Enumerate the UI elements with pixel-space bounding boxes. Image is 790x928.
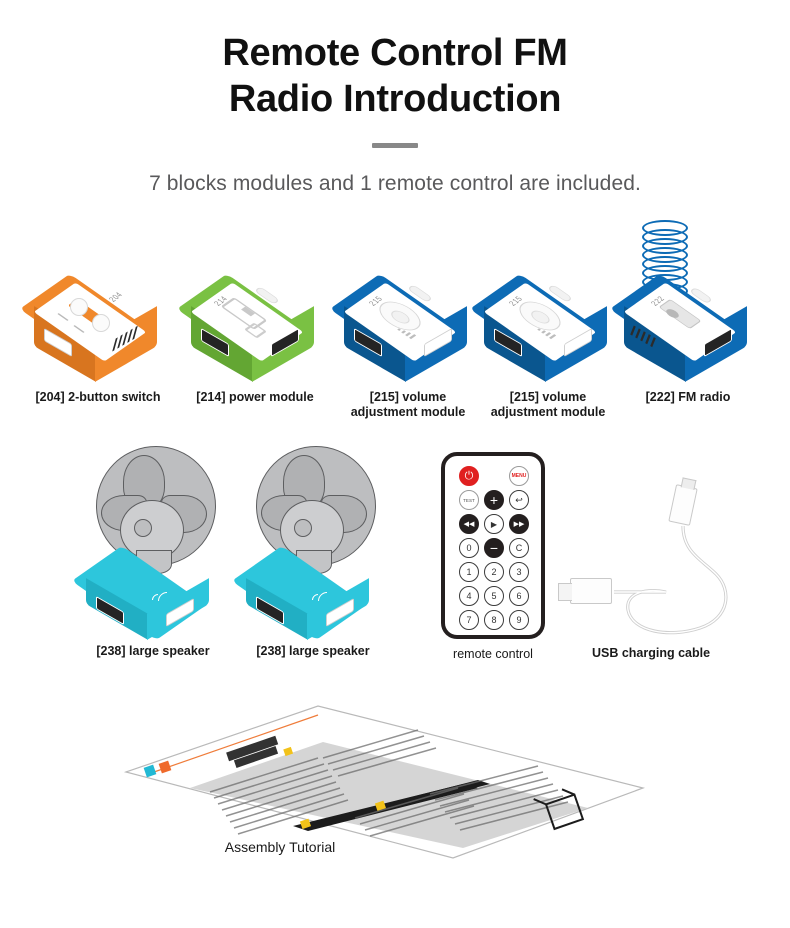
- module-215-volume-b: 215 [215] volume adjustment module: [478, 272, 618, 392]
- remote-power-button[interactable]: ⏻: [459, 466, 479, 486]
- module-204-2-button-switch: 204 [204] 2-button switch: [28, 272, 168, 392]
- remote-control: ⏻ MENU TEST + ↩ ◀◀ ▶ ▶▶ 0 − C 1 2 3 4 5 …: [441, 452, 545, 639]
- usb-cable-wire: [570, 482, 750, 647]
- usb-cable-art: [570, 482, 750, 647]
- button-a-graphic: [70, 298, 88, 316]
- module-214-caption: [214] power module: [175, 390, 335, 405]
- product-infographic: Remote Control FM Radio Introduction 7 b…: [0, 0, 790, 928]
- sound-wave-icon: [152, 592, 196, 608]
- remote-digit-4-button[interactable]: 4: [459, 586, 479, 606]
- remote-next-button[interactable]: ▶▶: [509, 514, 529, 534]
- page-title-line1: Remote Control FM: [0, 30, 790, 76]
- module-238-speaker-a: [238] large speaker: [78, 442, 248, 612]
- speaker-a-art: [78, 442, 248, 612]
- remote-digit-3-button[interactable]: 3: [509, 562, 529, 582]
- module-215a-caption: [215] volume adjustment module: [328, 390, 488, 420]
- module-215-volume-a: 215 [215] volume adjustment module: [338, 272, 478, 392]
- remote-previous-button[interactable]: ◀◀: [459, 514, 479, 534]
- remote-digit-1-button[interactable]: 1: [459, 562, 479, 582]
- module-214-art: 214: [185, 272, 325, 392]
- remote-digit-0-button[interactable]: 0: [459, 538, 479, 558]
- remote-volume-up-button[interactable]: +: [484, 490, 504, 510]
- module-215b-caption: [215] volume adjustment module: [468, 390, 628, 420]
- assembly-tutorial-art: [118, 700, 638, 860]
- module-215a-art: 215: [338, 272, 478, 392]
- remote-digit-2-button[interactable]: 2: [484, 562, 504, 582]
- usb-a-connector-icon: [570, 578, 612, 604]
- remote-control-caption: remote control: [413, 647, 573, 662]
- remote-control-art[interactable]: ⏻ MENU TEST + ↩ ◀◀ ▶ ▶▶ 0 − C 1 2 3 4 5 …: [441, 452, 545, 639]
- assembly-tutorial: Assembly Tutorial: [118, 700, 638, 860]
- speaker-a-caption: [238] large speaker: [73, 644, 233, 659]
- usb-cable-caption: USB charging cable: [571, 646, 731, 661]
- module-222-fm-radio: 222 [222] FM radio: [618, 272, 758, 392]
- page-title: Remote Control FM Radio Introduction: [0, 30, 790, 122]
- remote-digit-9-button[interactable]: 9: [509, 610, 529, 630]
- module-222-art: 222: [618, 272, 758, 392]
- remote-clear-button[interactable]: C: [509, 538, 529, 558]
- remote-volume-down-button[interactable]: −: [484, 538, 504, 558]
- assembly-tutorial-caption: Assembly Tutorial: [180, 840, 380, 855]
- remote-digit-6-button[interactable]: 6: [509, 586, 529, 606]
- speaker-base-block: [78, 560, 228, 622]
- speaker-base-block: [238, 560, 388, 622]
- button-b-graphic: [92, 314, 110, 332]
- speaker-b-caption: [238] large speaker: [233, 644, 393, 659]
- page-title-line2: Radio Introduction: [0, 76, 790, 122]
- speaker-b-art: [238, 442, 408, 612]
- title-divider: [372, 143, 418, 148]
- remote-play-button[interactable]: ▶: [484, 514, 504, 534]
- module-204-caption: [204] 2-button switch: [18, 390, 178, 405]
- remote-digit-5-button[interactable]: 5: [484, 586, 504, 606]
- module-204-art: 204: [28, 272, 168, 392]
- remote-return-button[interactable]: ↩: [509, 490, 529, 510]
- page-subtitle: 7 blocks modules and 1 remote control ar…: [0, 172, 790, 196]
- remote-digit-7-button[interactable]: 7: [459, 610, 479, 630]
- module-238-speaker-b: [238] large speaker: [238, 442, 408, 612]
- module-222-caption: [222] FM radio: [608, 390, 768, 405]
- remote-test-button[interactable]: TEST: [459, 490, 479, 510]
- usb-charging-cable: USB charging cable: [570, 482, 750, 647]
- module-215b-art: 215: [478, 272, 618, 392]
- remote-menu-button[interactable]: MENU: [509, 466, 529, 486]
- sound-wave-icon: [312, 592, 356, 608]
- remote-digit-8-button[interactable]: 8: [484, 610, 504, 630]
- module-214-power-module: 214 [214] power module: [185, 272, 325, 392]
